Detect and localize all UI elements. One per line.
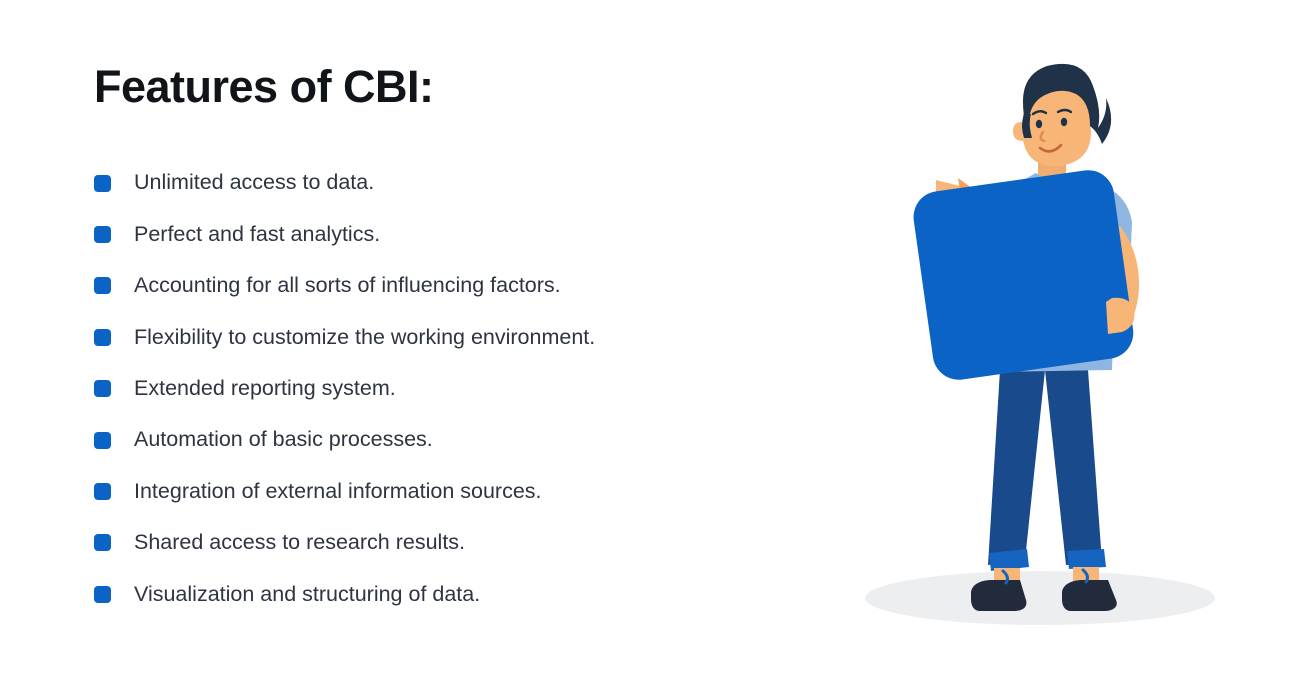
right-shoe: [1062, 580, 1117, 611]
square-bullet-icon: [94, 380, 111, 397]
feature-label: Shared access to research results.: [134, 532, 465, 554]
right-eye: [1061, 118, 1067, 126]
list-item: Perfect and fast analytics.: [94, 209, 774, 260]
list-item: Flexibility to customize the working env…: [94, 312, 774, 363]
feature-label: Visualization and structuring of data.: [134, 584, 480, 606]
content-column: Features of CBI: Unlimited access to dat…: [94, 62, 774, 620]
feature-label: Integration of external information sour…: [134, 481, 542, 503]
ground-shadow: [865, 571, 1215, 625]
square-bullet-icon: [94, 432, 111, 449]
slide-canvas: Features of CBI: Unlimited access to dat…: [0, 0, 1306, 683]
right-trouser-cuff: [1067, 549, 1106, 569]
list-item: Integration of external information sour…: [94, 466, 774, 517]
feature-label: Extended reporting system.: [134, 378, 396, 400]
left-shoe: [971, 580, 1026, 611]
feature-label: Flexibility to customize the working env…: [134, 327, 595, 349]
ear: [1013, 122, 1023, 141]
list-item: Automation of basic processes.: [94, 414, 774, 465]
square-bullet-icon: [94, 329, 111, 346]
list-item: Unlimited access to data.: [94, 158, 774, 209]
square-bullet-icon: [94, 534, 111, 551]
left-eye: [1036, 120, 1042, 128]
illustration-man-holding-cbi-card: CBI: [840, 40, 1260, 640]
square-bullet-icon: [94, 226, 111, 243]
right-leg: [1045, 370, 1102, 565]
left-leg: [988, 370, 1045, 565]
feature-list: Unlimited access to data. Perfect and fa…: [94, 158, 774, 621]
square-bullet-icon: [94, 277, 111, 294]
list-item: Accounting for all sorts of influencing …: [94, 260, 774, 311]
square-bullet-icon: [94, 175, 111, 192]
feature-label: Unlimited access to data.: [134, 172, 374, 194]
page-title: Features of CBI:: [94, 62, 774, 112]
list-item: Visualization and structuring of data.: [94, 569, 774, 620]
square-bullet-icon: [94, 483, 111, 500]
cbi-card: [910, 167, 1136, 383]
square-bullet-icon: [94, 586, 111, 603]
feature-label: Perfect and fast analytics.: [134, 224, 380, 246]
list-item: Extended reporting system.: [94, 363, 774, 414]
list-item: Shared access to research results.: [94, 517, 774, 568]
feature-label: Automation of basic processes.: [134, 429, 433, 451]
feature-label: Accounting for all sorts of influencing …: [134, 275, 561, 297]
